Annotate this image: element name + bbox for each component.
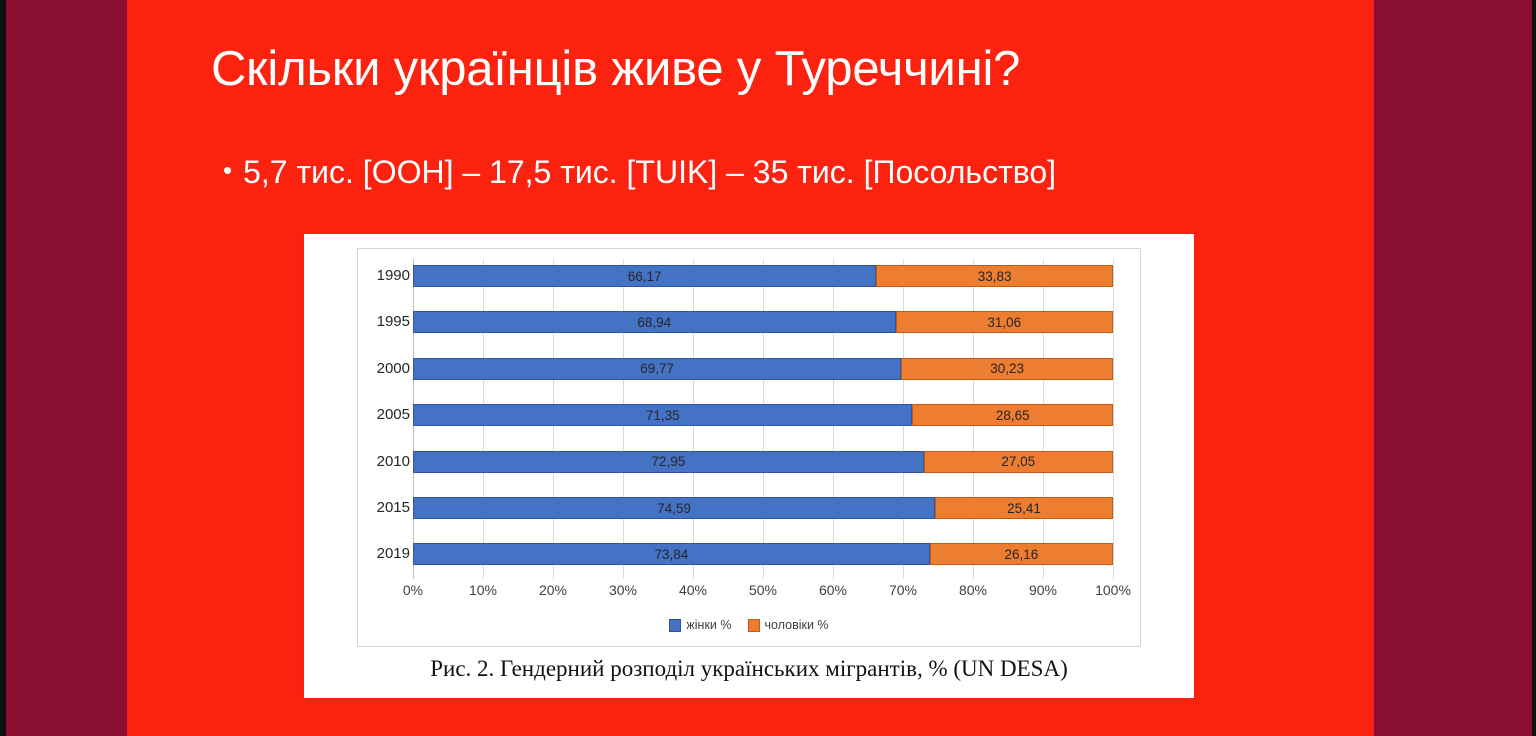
chart-legend-label: жінки % <box>686 618 731 632</box>
chart-x-tick-label: 0% <box>403 582 423 598</box>
chart-legend-swatch <box>669 619 681 632</box>
chart-bar-segment: 27,05 <box>924 451 1113 473</box>
chart-legend-item[interactable]: чоловіки % <box>748 618 829 632</box>
chart-bar-segment: 66,17 <box>413 265 876 287</box>
chart-category-label: 1995 <box>350 311 410 333</box>
presentation-slide: Скільки українців живе у Туреччині? • 5,… <box>0 0 1536 736</box>
chart-x-tick-label: 10% <box>469 582 497 598</box>
chart-bar-row: 201072,9527,05 <box>413 451 1113 473</box>
chart-bar-segment: 25,41 <box>935 497 1113 519</box>
chart-bar-segment: 71,35 <box>413 404 912 426</box>
bullet-marker-icon: • <box>223 157 232 183</box>
chart-x-tick-label: 20% <box>539 582 567 598</box>
chart-bar-segment: 33,83 <box>876 265 1113 287</box>
chart-bar-row: 200571,3528,65 <box>413 404 1113 426</box>
chart-bar-segment: 73,84 <box>413 543 930 565</box>
chart-category-label: 2019 <box>350 543 410 565</box>
chart-category-label: 1990 <box>350 265 410 287</box>
chart-bar-row: 200069,7730,23 <box>413 358 1113 380</box>
chart-bar-row: 199066,1733,83 <box>413 265 1113 287</box>
chart-legend-item[interactable]: жінки % <box>669 618 731 632</box>
chart-bar-row: 199568,9431,06 <box>413 311 1113 333</box>
chart-bar-segment: 72,95 <box>413 451 924 473</box>
chart-category-label: 2005 <box>350 404 410 426</box>
chart-legend-label: чоловіки % <box>765 618 829 632</box>
bullet-list-item: • 5,7 тис. [ООН] – 17,5 тис. [TUIK] – 35… <box>223 153 1343 191</box>
chart-x-tick-label: 70% <box>889 582 917 598</box>
chart-x-axis: 0%10%20%30%40%50%60%70%80%90%100% <box>413 582 1113 604</box>
page-title: Скільки українців живе у Туреччині? <box>211 42 1311 97</box>
chart-bar-segment: 69,77 <box>413 358 901 380</box>
chart-plot-area: 199066,1733,83199568,9431,06200069,7730,… <box>413 259 1113 579</box>
chart-bar-segment: 26,16 <box>930 543 1113 565</box>
chart-x-tick-label: 100% <box>1095 582 1131 598</box>
chart-bar-row: 201973,8426,16 <box>413 543 1113 565</box>
chart-x-tick-label: 30% <box>609 582 637 598</box>
chart-x-tick-label: 60% <box>819 582 847 598</box>
chart-legend: жінки %чоловіки % <box>358 615 1140 635</box>
chart-bar-segment: 30,23 <box>901 358 1113 380</box>
chart-x-tick-label: 50% <box>749 582 777 598</box>
chart-bar-row: 201574,5925,41 <box>413 497 1113 519</box>
chart-category-label: 2015 <box>350 497 410 519</box>
chart-frame: 199066,1733,83199568,9431,06200069,7730,… <box>357 248 1141 647</box>
chart-category-label: 2010 <box>350 451 410 473</box>
chart-gridline <box>1113 259 1114 579</box>
chart-bar-segment: 31,06 <box>896 311 1113 333</box>
chart-bar-segment: 74,59 <box>413 497 935 519</box>
figure-caption: Рис. 2. Гендерний розподіл українських м… <box>304 656 1194 682</box>
chart-bar-segment: 68,94 <box>413 311 896 333</box>
chart-x-tick-label: 90% <box>1029 582 1057 598</box>
figure-card: 199066,1733,83199568,9431,06200069,7730,… <box>304 234 1194 698</box>
chart-category-label: 2000 <box>350 358 410 380</box>
chart-x-tick-label: 40% <box>679 582 707 598</box>
chart-x-tick-label: 80% <box>959 582 987 598</box>
chart-legend-swatch <box>748 619 760 632</box>
chart-bar-segment: 28,65 <box>912 404 1113 426</box>
bullet-item-label: 5,7 тис. [ООН] – 17,5 тис. [TUIK] – 35 т… <box>243 153 1056 191</box>
